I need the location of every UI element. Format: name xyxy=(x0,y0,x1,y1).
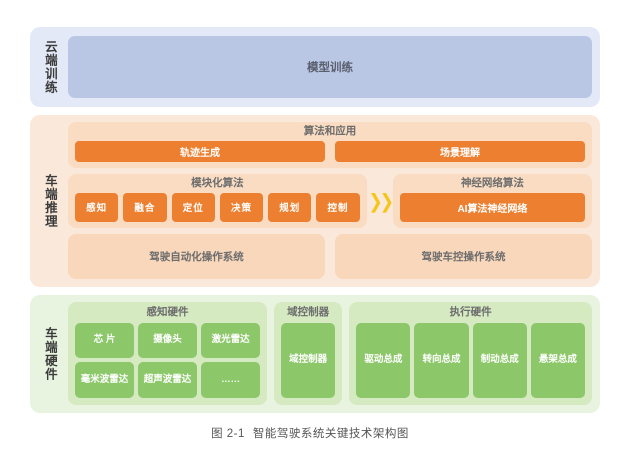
cloud-training-body: 模型训练 xyxy=(68,27,600,107)
algorithm-bar-ai-neural-network[interactable]: AI算法神经网络 xyxy=(400,193,585,222)
sensing-hardware-grid: 芯 片 摄像头 激光雷达 毫米波雷达 超声波雷达 …… xyxy=(75,323,260,398)
hardware-group-row: 感知硬件 芯 片 摄像头 激光雷达 毫米波雷达 超声波雷达 …… 域控制器 域控… xyxy=(68,302,592,405)
algorithm-bar-trajectory-generation[interactable]: 轨迹生成 xyxy=(75,141,325,162)
vehicle-inference-body: 算法和应用 轨迹生成 场景理解 模块化算法 感知 融合 定位 决策 规划 xyxy=(68,115,600,287)
tag-fusion[interactable]: 融合 xyxy=(123,193,166,222)
hardware-group-execution: 执行硬件 驱动总成 转向总成 制动总成 悬架总成 xyxy=(349,302,592,405)
hardware-group-domain-controller: 域控制器 域控制器 xyxy=(274,302,342,405)
hardware-chip-drive-assembly[interactable]: 驱动总成 xyxy=(356,323,410,398)
hardware-chip-millimeter-wave-radar[interactable]: 毫米波雷达 xyxy=(75,362,134,398)
modular-algorithm-tag-row: 感知 融合 定位 决策 规划 控制 xyxy=(75,193,360,222)
neural-bar-row: AI算法神经网络 xyxy=(400,193,585,222)
layer-label-cloud-training: 云端训练 xyxy=(30,27,68,107)
hardware-group-title-domain-controller: 域控制器 xyxy=(281,302,335,323)
model-training-box[interactable]: 模型训练 xyxy=(68,36,592,98)
hardware-chip-braking-assembly[interactable]: 制动总成 xyxy=(473,323,527,398)
os-box-driving-automation[interactable]: 驾驶自动化操作系统 xyxy=(68,234,325,279)
hardware-chip-domain-controller[interactable]: 域控制器 xyxy=(281,323,335,398)
double-chevron-right-icon: ❯❯ xyxy=(369,191,392,211)
tag-planning[interactable]: 规划 xyxy=(268,193,311,222)
hardware-chip-steering-assembly[interactable]: 转向总成 xyxy=(414,323,468,398)
layer-label-vehicle-hardware: 车端硬件 xyxy=(30,295,68,413)
tag-perception[interactable]: 感知 xyxy=(75,193,118,222)
algorithm-bar-scene-understanding[interactable]: 场景理解 xyxy=(335,141,585,162)
figure-caption-title: 智能驾驶系统关键技术架构图 xyxy=(253,428,409,440)
connector-area: ❯❯ xyxy=(367,174,393,228)
hardware-group-title-sensing: 感知硬件 xyxy=(75,302,260,323)
tag-control[interactable]: 控制 xyxy=(316,193,359,222)
layer-label-vehicle-inference: 车端推理 xyxy=(30,115,68,287)
hardware-chip-soc[interactable]: 芯 片 xyxy=(75,323,134,359)
panel-algorithms-and-applications: 算法和应用 轨迹生成 场景理解 xyxy=(68,122,592,168)
layer-vehicle-hardware: 车端硬件 感知硬件 芯 片 摄像头 激光雷达 毫米波雷达 超声波雷达 …… xyxy=(30,295,600,413)
panel-neural-network-algorithms: 神经网络算法 AI算法神经网络 xyxy=(393,174,592,228)
panel-title-algorithms-and-applications: 算法和应用 xyxy=(75,122,585,141)
execution-hardware-row: 驱动总成 转向总成 制动总成 悬架总成 xyxy=(356,323,585,398)
tag-localization[interactable]: 定位 xyxy=(172,193,215,222)
hardware-group-sensing: 感知硬件 芯 片 摄像头 激光雷达 毫米波雷达 超声波雷达 …… xyxy=(68,302,267,405)
panel-modular-algorithms: 模块化算法 感知 融合 定位 决策 规划 控制 xyxy=(68,174,367,228)
domain-controller-row: 域控制器 xyxy=(281,323,335,398)
inference-middle-row: 模块化算法 感知 融合 定位 决策 规划 控制 ❯❯ 神经网络算法 xyxy=(68,174,592,228)
figure-caption-number: 图 2-1 xyxy=(211,428,245,440)
hardware-chip-lidar[interactable]: 激光雷达 xyxy=(201,323,260,359)
vehicle-hardware-body: 感知硬件 芯 片 摄像头 激光雷达 毫米波雷达 超声波雷达 …… 域控制器 域控… xyxy=(68,295,600,413)
figure-caption: 图 2-1智能驾驶系统关键技术架构图 xyxy=(0,425,620,441)
hardware-group-title-execution: 执行硬件 xyxy=(356,302,585,323)
panel-title-neural-network-algorithms: 神经网络算法 xyxy=(400,174,585,193)
architecture-diagram: 云端训练 模型训练 车端推理 算法和应用 轨迹生成 场景理解 模块化算法 感 xyxy=(0,0,620,455)
layer-cloud-training: 云端训练 模型训练 xyxy=(30,27,600,107)
layer-vehicle-inference: 车端推理 算法和应用 轨迹生成 场景理解 模块化算法 感知 融合 定位 xyxy=(30,115,600,287)
hardware-chip-suspension-assembly[interactable]: 悬架总成 xyxy=(531,323,585,398)
operating-system-row: 驾驶自动化操作系统 驾驶车控操作系统 xyxy=(68,234,592,279)
hardware-chip-ultrasonic-radar[interactable]: 超声波雷达 xyxy=(138,362,197,398)
algorithm-bar-row: 轨迹生成 场景理解 xyxy=(75,141,585,162)
hardware-chip-camera[interactable]: 摄像头 xyxy=(138,323,197,359)
tag-decision[interactable]: 决策 xyxy=(220,193,263,222)
hardware-chip-ellipsis[interactable]: …… xyxy=(201,362,260,398)
os-box-vehicle-control[interactable]: 驾驶车控操作系统 xyxy=(335,234,592,279)
panel-title-modular-algorithms: 模块化算法 xyxy=(75,174,360,193)
